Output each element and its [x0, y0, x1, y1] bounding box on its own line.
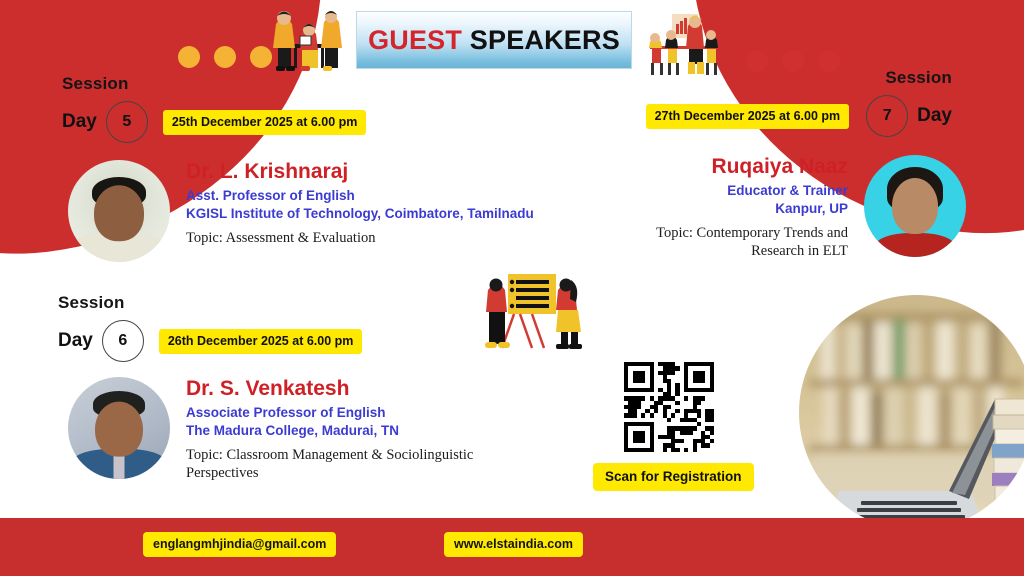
date-chip: 26th December 2025 at 6.00 pm — [159, 329, 363, 354]
day-row: Day 6 26th December 2025 at 6.00 pm — [58, 320, 362, 362]
title-banner: GUEST SPEAKERS — [356, 11, 632, 69]
speaker-card-venkatesh: Dr. S. Venkatesh Associate Professor of … — [68, 377, 473, 483]
speaker-avatar — [68, 377, 170, 479]
speaker-avatar — [68, 160, 170, 262]
session-block-day-5: Session Day 5 25th December 2025 at 6.00… — [62, 74, 366, 143]
speaker-topic: Topic: Assessment & Evaluation — [186, 229, 534, 248]
speaker-role: Associate Professor of English — [186, 404, 473, 422]
speaker-role: Educator & Trainer — [656, 182, 848, 200]
date-chip: 25th December 2025 at 6.00 pm — [163, 110, 367, 135]
speaker-topic: Topic: Contemporary Trends and Research … — [656, 224, 848, 262]
day-row: Day 5 25th December 2025 at 6.00 pm — [62, 101, 366, 143]
speaker-topic: Topic: Classroom Management & Sociolingu… — [186, 446, 473, 484]
poster-canvas: GUEST SPEAKERS — [0, 0, 1024, 576]
amber-dots-icon — [178, 46, 272, 68]
speaker-org: Kanpur, UP — [656, 200, 848, 218]
checklist-board-illustration-icon — [470, 268, 588, 369]
speaker-role: Asst. Professor of English — [186, 187, 534, 205]
day-number-badge: 6 — [102, 320, 144, 362]
speaker-org: The Madura College, Madurai, TN — [186, 422, 473, 440]
session-block-day-6: Session Day 6 26th December 2025 at 6.00… — [58, 293, 362, 362]
session-label: Session — [646, 68, 952, 88]
scan-for-registration-label: Scan for Registration — [593, 463, 754, 491]
classroom-illustration-icon — [262, 6, 348, 81]
session-label: Session — [58, 293, 362, 313]
qr-code-wrap[interactable] — [624, 362, 714, 452]
speaker-name: Ruqaiya Naaz — [656, 155, 848, 178]
dot — [178, 46, 200, 68]
footer-email[interactable]: englangmhjindia@gmail.com — [143, 532, 336, 557]
day-number-badge: 5 — [106, 101, 148, 143]
day-word: Day — [62, 111, 97, 133]
session-block-day-7: Session 27th December 2025 at 6.00 pm 7 … — [646, 68, 952, 137]
speaker-org: KGISL Institute of Technology, Coimbator… — [186, 205, 534, 223]
day-word: Day — [917, 105, 952, 127]
speaker-info: Dr. S. Venkatesh Associate Professor of … — [186, 377, 473, 483]
speaker-info: Ruqaiya Naaz Educator & Trainer Kanpur, … — [656, 155, 848, 261]
page-title: GUEST SPEAKERS — [368, 25, 620, 56]
speaker-info: Dr. L. Krishnaraj Asst. Professor of Eng… — [186, 160, 534, 247]
day-row: 27th December 2025 at 6.00 pm 7 Day — [646, 95, 952, 137]
dot — [214, 46, 236, 68]
speaker-card-krishnaraj: Dr. L. Krishnaraj Asst. Professor of Eng… — [68, 160, 534, 262]
speaker-name: Dr. S. Venkatesh — [186, 377, 473, 400]
title-word-guest: GUEST — [368, 25, 462, 55]
date-chip: 27th December 2025 at 6.00 pm — [646, 104, 850, 129]
library-laptop-photo — [799, 295, 1024, 530]
footer-website[interactable]: www.elstaindia.com — [444, 532, 583, 557]
session-label: Session — [62, 74, 366, 94]
day-number-badge: 7 — [866, 95, 908, 137]
day-word: Day — [58, 330, 93, 352]
speaker-card-ruqaiya: Ruqaiya Naaz Educator & Trainer Kanpur, … — [656, 155, 966, 261]
speaker-name: Dr. L. Krishnaraj — [186, 160, 534, 183]
title-word-speakers: SPEAKERS — [470, 25, 620, 55]
qr-code-icon[interactable] — [624, 362, 714, 452]
speaker-avatar — [864, 155, 966, 257]
